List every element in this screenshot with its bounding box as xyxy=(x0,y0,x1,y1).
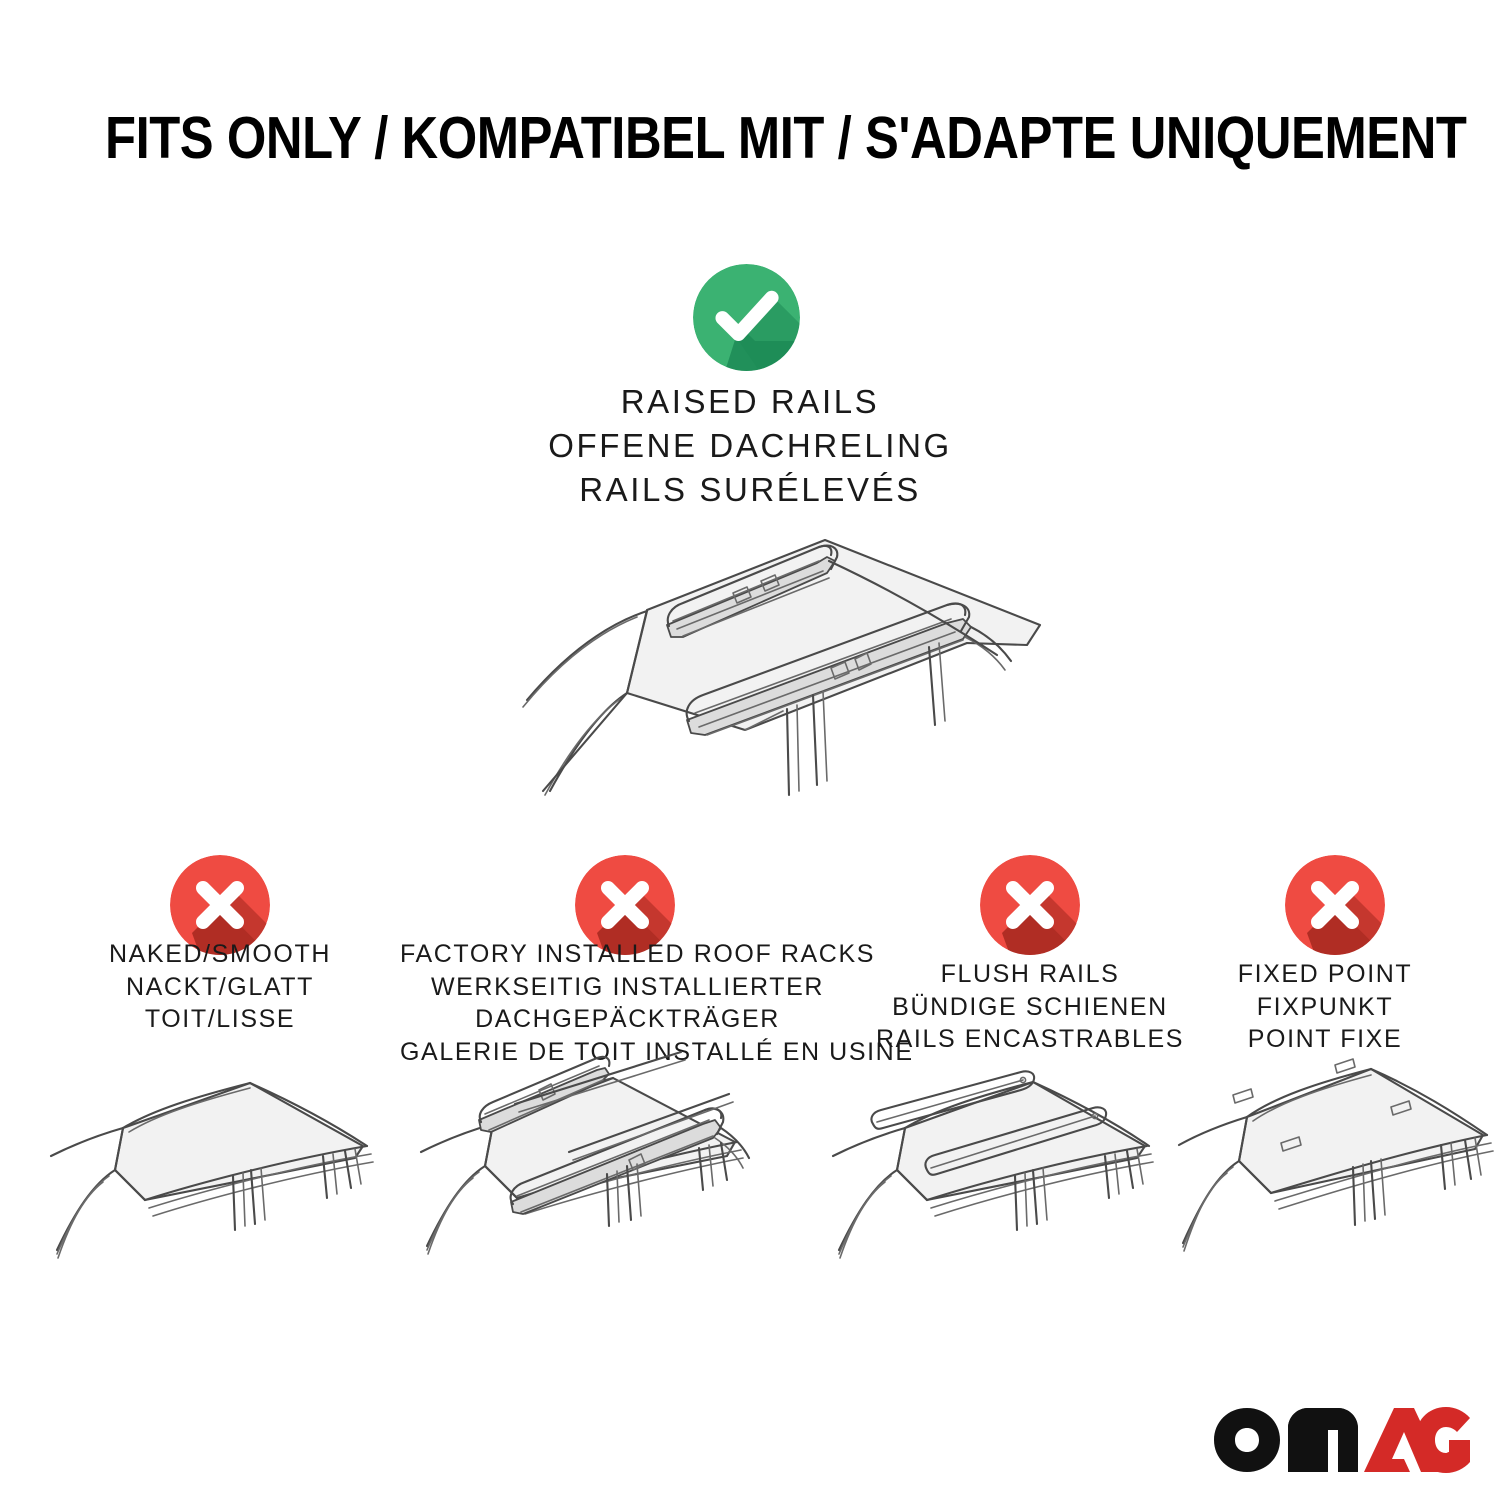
incompatible-caption-fixed-point: FIXED POINT FIXPUNKT POINT FIXE xyxy=(1160,958,1490,1056)
label-de: WERKSEITIG INSTALLIERTER xyxy=(400,971,855,1004)
car-roof-raised-rails-illustration xyxy=(415,495,1095,840)
omac-logo xyxy=(1212,1402,1472,1474)
x-circle-icon-flush-rails xyxy=(980,855,1080,955)
label-de: NACKT/GLATT xyxy=(20,971,420,1004)
compatible-label-de: OFFENE DACHRELING xyxy=(0,424,1500,468)
label-de-2: DACHGEPÄCKTRÄGER xyxy=(400,1003,855,1036)
check-circle-icon xyxy=(693,264,800,371)
label-en: NAKED/SMOOTH xyxy=(20,938,420,971)
car-roof-factory-roof-racks-illustration xyxy=(415,1048,765,1283)
omac-logo-mark xyxy=(1212,1402,1472,1474)
label-fr: TOIT/LISSE xyxy=(20,1003,420,1036)
label-en: FIXED POINT xyxy=(1160,958,1490,991)
label-en: FACTORY INSTALLED ROOF RACKS xyxy=(400,938,855,971)
label-de: FIXPUNKT xyxy=(1160,991,1490,1024)
incompatible-caption-naked-smooth: NAKED/SMOOTH NACKT/GLATT TOIT/LISSE xyxy=(20,938,420,1036)
compatible-caption: RAISED RAILS OFFENE DACHRELING RAILS SUR… xyxy=(0,380,1500,513)
car-roof-flush-rails-illustration xyxy=(825,1058,1170,1283)
page-title: FITS ONLY / KOMPATIBEL MIT / S'ADAPTE UN… xyxy=(105,108,1395,170)
compatible-label-en: RAISED RAILS xyxy=(0,380,1500,424)
car-roof-fixed-point-illustration xyxy=(1175,1055,1500,1280)
label-fr: POINT FIXE xyxy=(1160,1023,1490,1056)
car-roof-naked-smooth-illustration xyxy=(45,1058,385,1283)
x-circle-icon-fixed-point xyxy=(1285,855,1385,955)
